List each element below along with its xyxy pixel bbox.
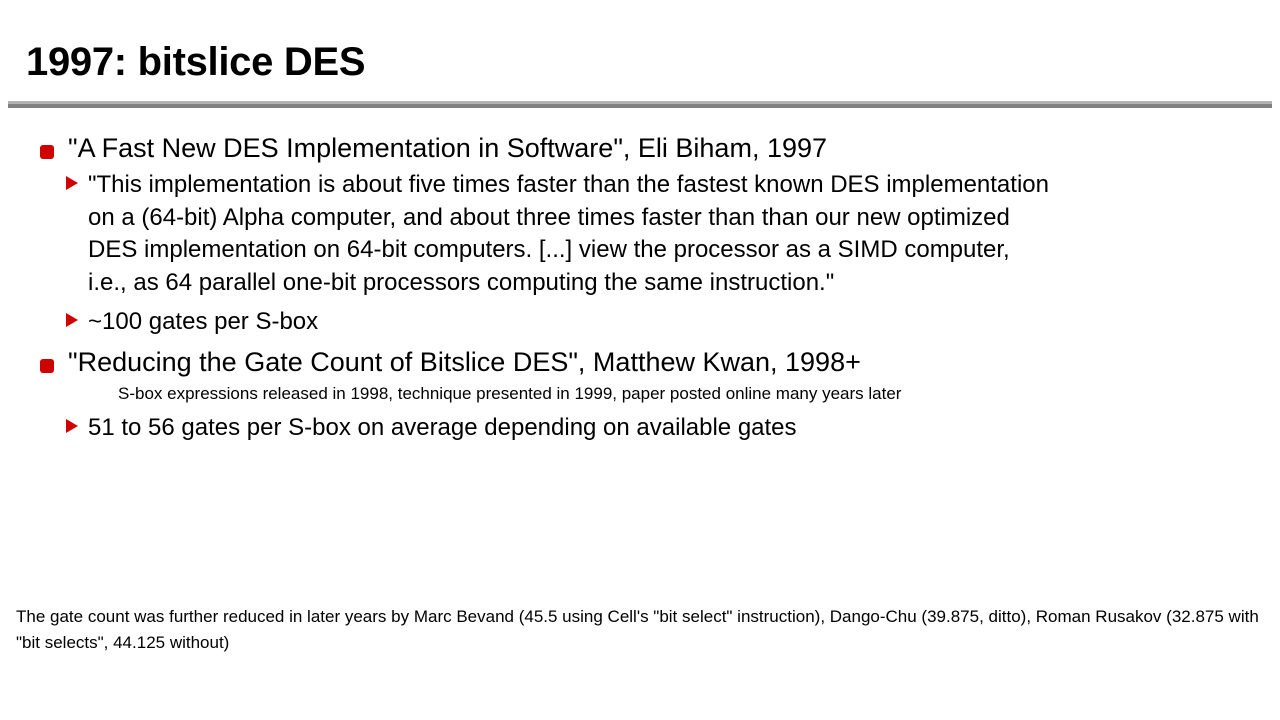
sub-bullet-label-gates-kwan: 51 to 56 gates per S-box on average depe… xyxy=(88,412,1258,445)
quote-line-3: DES implementation on 64-bit computers. … xyxy=(88,234,1258,267)
note-kwan-timeline: S-box expressions released in 1998, tech… xyxy=(0,383,1280,405)
bullet-label-kwan-paper: "Reducing the Gate Count of Bitslice DES… xyxy=(68,347,861,377)
bullet-item-kwan-paper: "Reducing the Gate Count of Bitslice DES… xyxy=(0,348,1280,377)
bullet-triangle-icon xyxy=(66,176,78,190)
slide: 1997: bitslice DES "A Fast New DES Imple… xyxy=(0,0,1280,720)
quote-line-1: "This implementation is about five times… xyxy=(88,169,1258,202)
bullet-triangle-icon xyxy=(66,313,78,327)
bullet-triangle-icon xyxy=(66,419,78,433)
bullet-dot-icon xyxy=(40,359,54,373)
bullet-label-biham-paper: "A Fast New DES Implementation in Softwa… xyxy=(68,133,827,163)
slide-title: 1997: bitslice DES xyxy=(26,42,365,82)
bullet-dot-icon xyxy=(40,145,54,159)
title-divider-rule xyxy=(8,101,1272,108)
bullet-item-biham-paper: "A Fast New DES Implementation in Softwa… xyxy=(0,134,1280,163)
sub-bullet-label-gates-1997: ~100 gates per S-box xyxy=(88,306,1258,339)
quote-line-4: i.e., as 64 parallel one-bit processors … xyxy=(88,267,1258,300)
sub-bullet-quote-text: "This implementation is about five times… xyxy=(88,169,1258,300)
slide-body: "A Fast New DES Implementation in Softwa… xyxy=(0,134,1280,446)
quote-line-2: on a (64-bit) Alpha computer, and about … xyxy=(88,202,1258,235)
sub-bullet-biham-quote: "This implementation is about five times… xyxy=(0,169,1258,300)
slide-footnote: The gate count was further reduced in la… xyxy=(16,604,1266,657)
sub-bullet-gates-1997: ~100 gates per S-box xyxy=(0,306,1258,339)
sub-bullet-gates-kwan: 51 to 56 gates per S-box on average depe… xyxy=(0,412,1258,445)
